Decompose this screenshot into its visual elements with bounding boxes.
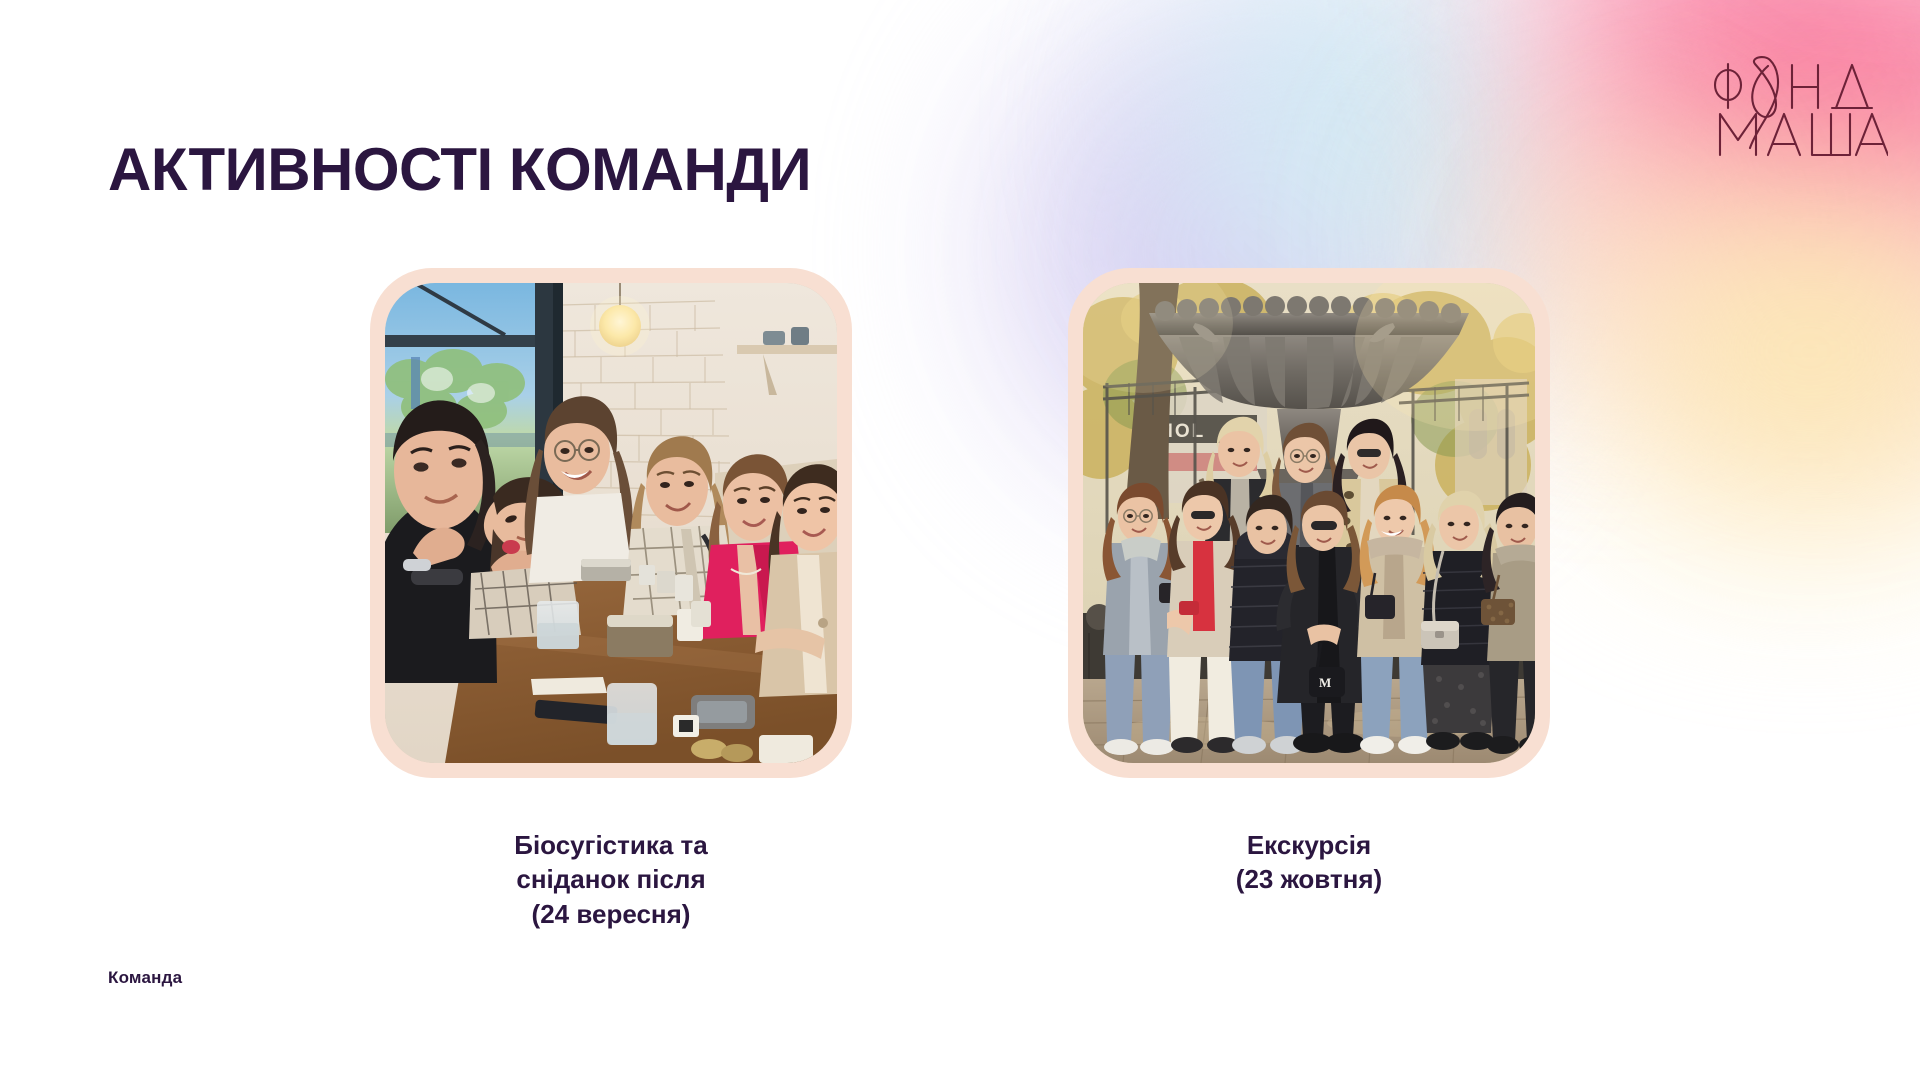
photo-team-excursion: MOL bbox=[1083, 283, 1535, 763]
brand-logo: ФОНД МАША bbox=[1706, 52, 1888, 164]
photo-caption-team-excursion: Екскурсія (23 жовтня) bbox=[1068, 828, 1550, 897]
photo-card-team-excursion[interactable]: MOL bbox=[1068, 268, 1550, 778]
footer-section-label: Команда bbox=[108, 968, 182, 988]
photo-team-breakfast bbox=[385, 283, 837, 763]
gradient-blob-yellow bbox=[1500, 160, 1920, 560]
page-title: АКТИВНОСТІ КОМАНДИ bbox=[108, 136, 811, 203]
svg-text:M: M bbox=[1319, 675, 1331, 690]
photo-card-team-breakfast[interactable] bbox=[370, 268, 852, 778]
photo-caption-team-breakfast: Біосугістика та сніданок після (24 верес… bbox=[370, 828, 852, 931]
slide-root: АКТИВНОСТІ КОМАНДИ bbox=[0, 0, 1920, 1080]
